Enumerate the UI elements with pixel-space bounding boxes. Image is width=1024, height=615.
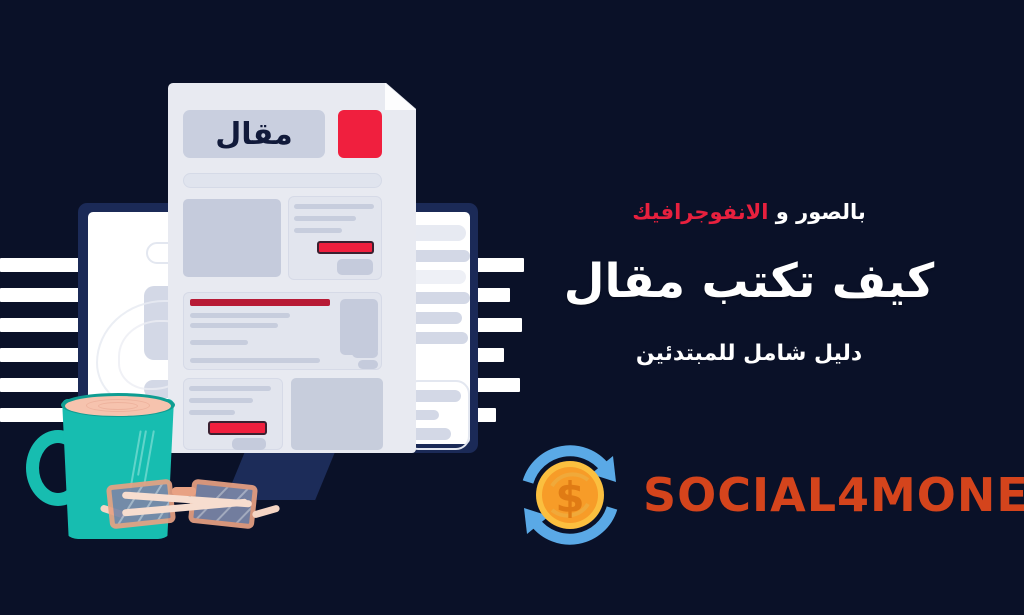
brand-logo[interactable]: $ SOCIAL4MONEY: [505, 425, 1015, 565]
document-image-placeholder: [291, 378, 383, 450]
headline-group: بالصور و الانفوجرافيك كيف تكتب مقال دليل…: [514, 200, 984, 366]
eyeglasses: [108, 474, 280, 536]
document-image-placeholder: [340, 299, 378, 355]
document-accent-square: [338, 110, 382, 158]
document-cta-button: [208, 421, 267, 435]
document-text-line: [190, 358, 320, 363]
promo-banner: مقال: [0, 0, 1024, 615]
refresh-dollar-coin-icon: $: [505, 430, 635, 560]
document-image-placeholder: [358, 360, 378, 369]
document-image-placeholder: [352, 348, 378, 358]
document-text-line: [294, 204, 374, 209]
document-headline-rule: [190, 299, 330, 306]
document-text-line: [190, 323, 278, 328]
document-text-line: [294, 228, 342, 233]
document-text-line: [190, 340, 248, 345]
screen-bar: [408, 292, 470, 304]
document-image-placeholder: [232, 438, 266, 450]
screen-bar: [409, 390, 461, 402]
screen-bar: [408, 270, 466, 284]
document-text-line: [189, 410, 235, 415]
glasses-lens-left: [106, 479, 176, 530]
document-text-line: [294, 216, 356, 221]
screen-bar: [408, 225, 466, 241]
document-title: مقال: [183, 112, 325, 156]
screen-bar: [408, 250, 470, 262]
document-accent-button: [317, 241, 374, 254]
document-text-line: [189, 398, 253, 403]
document-image-placeholder: [183, 199, 281, 277]
screen-bar: [408, 332, 468, 344]
document-search-bar: [183, 173, 382, 188]
subtitle: دليل شامل للمبتدئين: [514, 341, 984, 366]
eyebrow-plain: بالصور و: [769, 200, 866, 224]
document-text-line: [190, 313, 290, 318]
document-text-line: [189, 386, 271, 391]
logo-wordmark: SOCIAL4MONEY: [643, 468, 1024, 522]
document-image-placeholder: [337, 259, 373, 275]
foam-swirl: [98, 402, 138, 410]
page-title: كيف تكتب مقال: [514, 254, 984, 309]
eyebrow-text: بالصور و الانفوجرافيك: [514, 200, 984, 224]
screen-bar: [408, 312, 462, 324]
hero-illustration: مقال: [0, 0, 520, 615]
eyebrow-accent: الانفوجرافيك: [632, 200, 768, 224]
svg-text:$: $: [555, 473, 584, 522]
